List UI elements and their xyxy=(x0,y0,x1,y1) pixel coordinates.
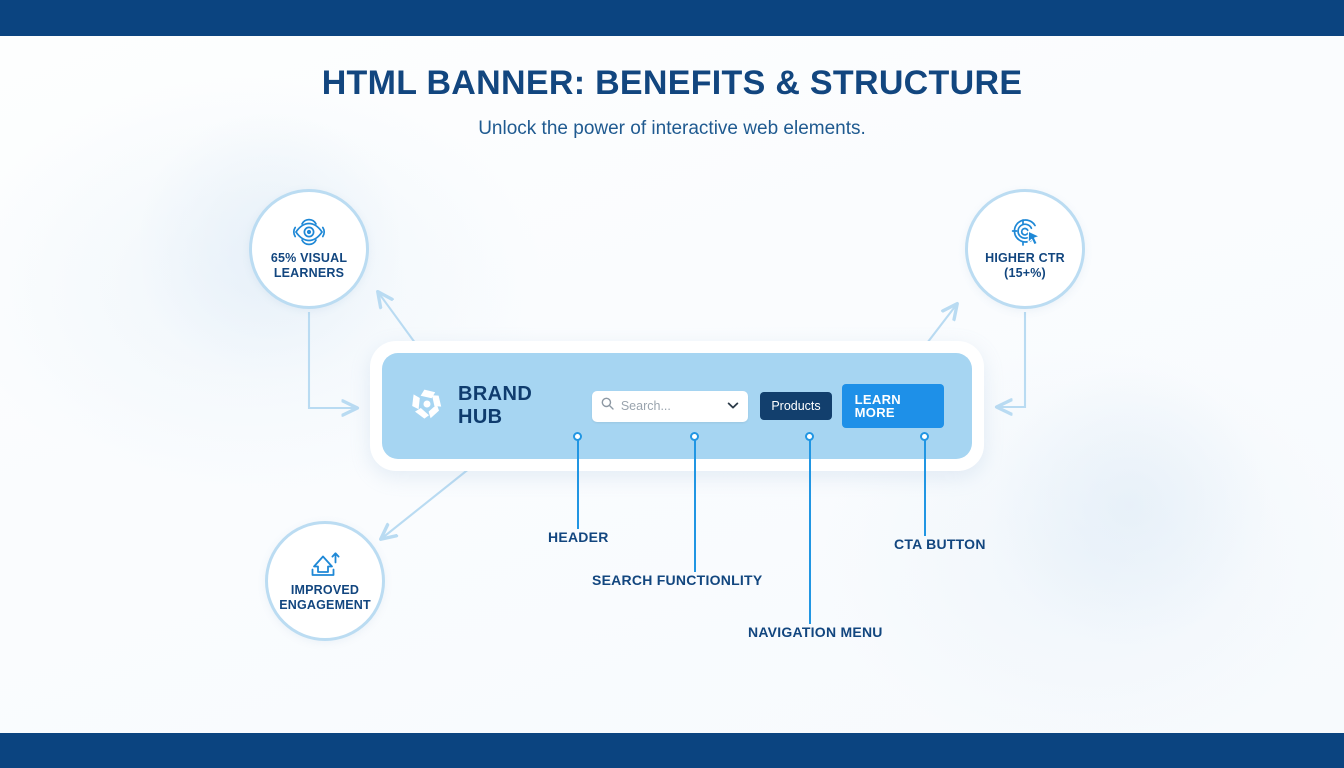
callout-label-search: SEARCH FUNCTIONLITY xyxy=(592,572,762,588)
benefit-node-label: HIGHER CTR (15+%) xyxy=(985,251,1065,282)
search-input[interactable]: Search... xyxy=(592,391,748,422)
benefit-node-label: 65% VISUAL LEARNERS xyxy=(271,251,347,282)
brand-name: BRAND HUB xyxy=(458,383,556,429)
bottom-accent-bar xyxy=(0,733,1344,768)
top-accent-bar xyxy=(0,0,1344,36)
target-cursor-icon xyxy=(1009,217,1041,247)
benefit-node-improved-engagement[interactable]: IMPROVED ENGAGEMENT xyxy=(265,521,385,641)
callout-label-header: HEADER xyxy=(548,529,609,545)
cta-button-learn-more[interactable]: LEARN MORE xyxy=(842,384,944,428)
arrow-up-house-icon xyxy=(308,549,342,579)
callout-stem-navigation xyxy=(809,440,811,624)
callout-label-cta: CTA BUTTON xyxy=(894,536,986,552)
eye-icon xyxy=(292,217,326,247)
brand-block: BRAND HUB xyxy=(410,383,556,429)
banner-mockup-frame: BRAND HUB Search... Products LEARN MO xyxy=(370,341,984,471)
callout-stem-cta xyxy=(924,440,926,536)
chevron-down-icon[interactable] xyxy=(727,397,739,415)
nav-button-products[interactable]: Products xyxy=(760,392,831,421)
benefit-node-visual-learners[interactable]: 65% VISUAL LEARNERS xyxy=(249,189,369,309)
banner-mockup: BRAND HUB Search... Products LEARN MO xyxy=(382,353,972,459)
callout-stem-header xyxy=(577,440,579,529)
benefit-node-higher-ctr[interactable]: HIGHER CTR (15+%) xyxy=(965,189,1085,309)
callout-label-navigation: NAVIGATION MENU xyxy=(748,624,883,640)
pinwheel-logo-icon xyxy=(410,387,444,426)
benefit-node-label: IMPROVED ENGAGEMENT xyxy=(279,583,371,614)
callout-stem-search xyxy=(694,440,696,572)
search-icon xyxy=(601,397,614,415)
search-placeholder: Search... xyxy=(621,399,727,413)
infographic-canvas: HTML BANNER: BENEFITS & STRUCTURE Unlock… xyxy=(0,36,1344,733)
